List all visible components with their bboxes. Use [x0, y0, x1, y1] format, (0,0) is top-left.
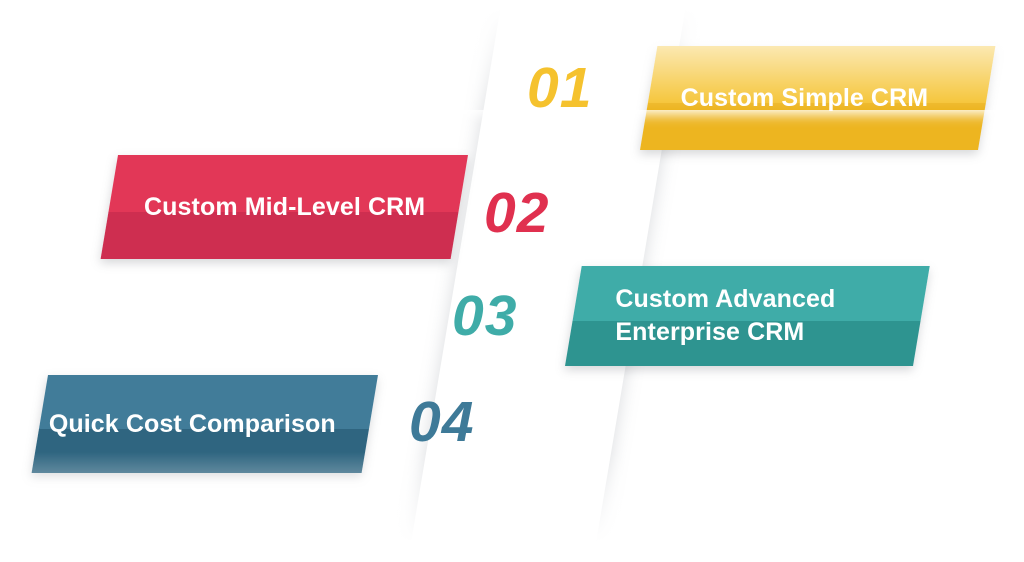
item-label-04: Quick Cost Comparison: [40, 408, 370, 441]
infographic-slide: Custom Simple CRM 01 Custom Mid-Level CR…: [0, 0, 1024, 562]
item-bar-03[interactable]: Custom Advanced Enterprise CRM: [565, 266, 930, 366]
item-bar-01[interactable]: Custom Simple CRM: [640, 46, 995, 150]
item-number-03: 03: [452, 288, 517, 345]
item-label-01: Custom Simple CRM: [649, 82, 987, 115]
item-label-03: Custom Advanced Enterprise CRM: [573, 283, 921, 349]
item-bar-02[interactable]: Custom Mid-Level CRM: [101, 155, 468, 259]
item-number-01: 01: [527, 60, 592, 117]
item-bar-04[interactable]: Quick Cost Comparison: [32, 375, 378, 473]
item-number-04: 04: [409, 394, 474, 451]
item-number-02: 02: [484, 185, 549, 242]
item-label-02: Custom Mid-Level CRM: [109, 191, 459, 224]
